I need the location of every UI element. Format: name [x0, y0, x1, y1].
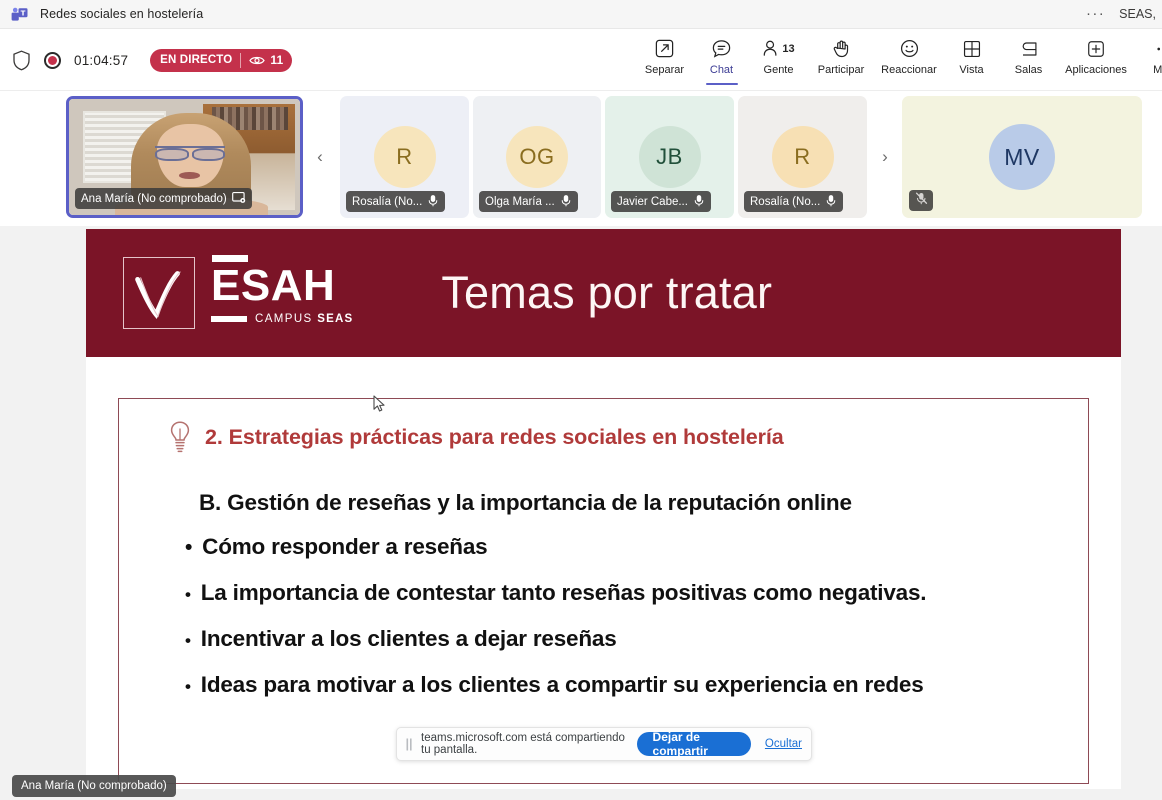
screen-share-notification-bar: teams.microsoft.com está compartiendo tu…	[396, 727, 812, 761]
eye-icon	[249, 55, 265, 66]
avatar: R	[374, 126, 436, 188]
participant-name: Olga María ...	[485, 196, 555, 208]
participant-name: Javier Cabe...	[617, 196, 688, 208]
grid-view-icon	[962, 36, 982, 61]
org-label: SEAS,	[1119, 7, 1156, 21]
toolbar-button-gente[interactable]: 13 Gente	[750, 29, 807, 87]
avatar: R	[772, 126, 834, 188]
toolbar-label: Salas	[1015, 64, 1043, 76]
breakout-rooms-icon	[1019, 36, 1039, 61]
toolbar-button-aplicaciones[interactable]: Aplicaciones	[1057, 29, 1135, 87]
bullet-text: Ideas para motivar a los clientes a comp…	[201, 672, 924, 698]
mic-icon	[427, 194, 439, 210]
participant-tile-javier-cabe[interactable]: JB Javier Cabe...	[605, 96, 734, 218]
bullet-dot: •	[185, 678, 191, 695]
presentation-slide: ESAH CAMPUS SEAS Temas por tratar	[86, 229, 1121, 789]
toolbar-label: Gente	[764, 64, 794, 76]
avatar-initials: MV	[1004, 144, 1040, 171]
avatar-initials: R	[396, 144, 412, 170]
svg-text:T: T	[21, 9, 26, 17]
toolbar-label: Separar	[645, 64, 684, 76]
people-count-badge: 13	[782, 43, 794, 55]
toolbar-button-chat[interactable]: Chat	[693, 29, 750, 87]
logo-campus-text: CAMPUS SEAS	[255, 313, 353, 325]
toolbar-actions: Separar Chat 13 Gente	[636, 29, 1162, 91]
participant-name-badge: Olga María ...	[479, 191, 578, 212]
presenting-icon	[232, 191, 246, 207]
avatar: JB	[639, 126, 701, 188]
list-item: •Incentivar a los clientes a dejar reseñ…	[185, 626, 1088, 652]
roster-prev-button[interactable]: ‹	[307, 96, 333, 218]
toolbar-button-mas[interactable]: Más	[1135, 29, 1162, 87]
participant-name: Rosalía (No...	[352, 196, 422, 208]
chat-icon	[711, 36, 732, 61]
viewers-count: 11	[270, 53, 283, 67]
toolbar-button-separar[interactable]: Separar	[636, 29, 693, 87]
active-tab-indicator	[706, 83, 738, 86]
toolbar-label: Vista	[959, 64, 983, 76]
bullet-dot: •	[185, 586, 191, 603]
toolbar-label: Reaccionar	[881, 64, 937, 76]
toolbar-button-vista[interactable]: Vista	[943, 29, 1000, 87]
logo-wordmark: ESAH	[211, 261, 335, 308]
avatar-initials: OG	[519, 144, 554, 170]
toolbar-label: Más	[1153, 64, 1162, 76]
participant-name-badge: Ana María (No comprobado)	[75, 188, 252, 209]
avatar: MV	[989, 124, 1055, 190]
toolbar-label: Chat	[710, 64, 733, 76]
participant-tooltip: Ana María (No comprobado)	[12, 775, 176, 797]
raise-hand-icon	[831, 36, 852, 61]
chevron-left-icon: ‹	[317, 147, 323, 167]
participant-name-badge: Rosalía (No...	[346, 191, 445, 212]
meeting-toolbar: 01:04:57 EN DIRECTO 11 Separar	[0, 29, 1162, 91]
bullet-text: Incentivar a los clientes a dejar reseña…	[201, 626, 617, 652]
participant-name-badge: Javier Cabe...	[611, 191, 711, 212]
toolbar-button-salas[interactable]: Salas	[1000, 29, 1057, 87]
emoji-icon	[899, 36, 920, 61]
mic-icon	[560, 194, 572, 210]
section-heading: 2. Estrategias prácticas para redes soci…	[205, 425, 784, 450]
list-item: •Ideas para motivar a los clientes a com…	[185, 672, 1088, 698]
people-icon: 13	[762, 36, 794, 61]
slide-bullet-list: •Cómo responder a reseñas •La importanci…	[185, 534, 1088, 698]
divider	[240, 53, 241, 68]
participant-tile-rosalia-1[interactable]: R Rosalía (No...	[340, 96, 469, 218]
toolbar-button-participar[interactable]: Participar	[807, 29, 875, 87]
chevron-right-icon: ›	[882, 147, 888, 167]
hide-link[interactable]: Ocultar	[765, 738, 802, 750]
participant-tile-olga-maria[interactable]: OG Olga María ...	[473, 96, 601, 218]
drag-handle-icon[interactable]	[406, 738, 413, 751]
participant-name: Rosalía (No...	[750, 196, 820, 208]
bullet-text: La importancia de contestar tanto reseña…	[201, 580, 927, 606]
stop-sharing-button[interactable]: Dejar de compartir	[637, 732, 751, 756]
bullet-dot: •	[185, 632, 191, 649]
window-title: Redes sociales en hostelería	[40, 7, 203, 21]
toolbar-label: Aplicaciones	[1065, 64, 1127, 76]
section-heading-row: 2. Estrategias prácticas para redes soci…	[167, 420, 1088, 454]
participant-name-badge: Rosalía (No...	[744, 191, 843, 212]
lightbulb-icon	[167, 420, 193, 454]
bullet-dot: •	[185, 537, 192, 558]
slide-title: Temas por tratar	[441, 267, 772, 319]
bullet-text: Cómo responder a reseñas	[202, 534, 487, 560]
slide-header: ESAH CAMPUS SEAS Temas por tratar	[86, 229, 1121, 357]
pop-out-icon	[654, 36, 675, 61]
window-overflow-button[interactable]: ···	[1086, 9, 1105, 19]
checkmark-logo-icon	[123, 257, 195, 329]
logo-bar-top	[212, 255, 248, 262]
participant-tile-ana-maria[interactable]: Ana María (No comprobado)	[66, 96, 303, 218]
logo-name: ESAH	[211, 261, 335, 310]
more-icon	[1154, 36, 1162, 61]
logo-bar-bottom	[211, 316, 247, 322]
participant-roster: Ana María (No comprobado) ‹ R Rosalía (N…	[0, 91, 1162, 226]
list-item: •La importancia de contestar tanto reseñ…	[185, 580, 1088, 606]
esah-logo: ESAH CAMPUS SEAS	[123, 257, 353, 329]
toolbar-button-reaccionar[interactable]: Reaccionar	[875, 29, 943, 87]
live-badge: EN DIRECTO 11	[150, 49, 292, 72]
slide-subheading: B. Gestión de reseñas y la importancia d…	[199, 490, 1088, 516]
window-title-bar: T Redes sociales en hostelería ··· SEAS,	[0, 0, 1162, 29]
avatar-initials: R	[794, 144, 810, 170]
mic-icon	[825, 194, 837, 210]
mouse-pointer-icon	[373, 395, 386, 413]
live-label: EN DIRECTO	[160, 54, 232, 66]
list-item: •Cómo responder a reseñas	[185, 534, 1088, 560]
participant-tile-rosalia-2[interactable]: R Rosalía (No...	[738, 96, 867, 218]
avatar-initials: JB	[656, 144, 683, 170]
mic-icon	[693, 194, 705, 210]
roster-next-button[interactable]: ›	[872, 96, 898, 218]
apps-plus-icon	[1086, 36, 1106, 61]
avatar: OG	[506, 126, 568, 188]
shared-content-stage: ESAH CAMPUS SEAS Temas por tratar	[0, 226, 1162, 800]
record-icon	[44, 52, 61, 69]
participant-tile-mv[interactable]: MV	[902, 96, 1142, 218]
toolbar-label: Participar	[818, 64, 864, 76]
mic-muted-icon	[915, 192, 928, 210]
teams-icon: T	[11, 6, 28, 23]
shield-icon	[12, 50, 31, 71]
share-message: teams.microsoft.com está compartiendo tu…	[421, 732, 626, 756]
participant-name: Ana María (No comprobado)	[81, 193, 227, 205]
mic-muted-badge	[909, 190, 933, 211]
meeting-timer: 01:04:57	[74, 53, 128, 68]
